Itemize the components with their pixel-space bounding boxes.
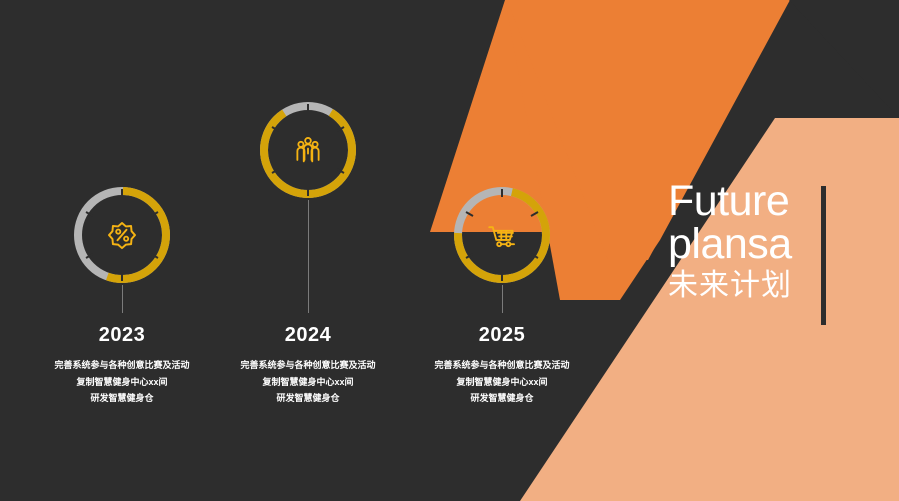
timeline-stem-2023	[122, 285, 123, 313]
title-chinese: 未来计划	[668, 269, 868, 302]
peach-overlay-top	[789, 0, 899, 118]
people-group-icon	[258, 100, 358, 200]
node-description-2024: 完善系统参与各种创意比赛及活动 复制智慧健身中心xx间 研发智慧健身仓	[208, 357, 408, 407]
slide-canvas: Future plansa 未来计划	[0, 0, 899, 501]
node-description-2023: 完善系统参与各种创意比赛及活动 复制智慧健身中心xx间 研发智慧健身仓	[22, 357, 222, 407]
discount-badge-icon	[72, 185, 172, 285]
desc-line: 复制智慧健身中心xx间	[22, 374, 222, 391]
shopping-cart-icon	[452, 185, 552, 285]
title-line-1: Future	[668, 180, 868, 223]
timeline-node-2024[interactable]: 2024 完善系统参与各种创意比赛及活动 复制智慧健身中心xx间 研发智慧健身仓	[208, 100, 408, 407]
progress-ring-2023	[72, 185, 172, 285]
year-label-2024: 2024	[208, 325, 408, 345]
desc-line: 完善系统参与各种创意比赛及活动	[402, 357, 602, 374]
desc-line: 研发智慧健身仓	[208, 390, 408, 407]
year-label-2025: 2025	[402, 325, 602, 345]
title-block: Future plansa 未来计划	[668, 180, 868, 302]
desc-line: 完善系统参与各种创意比赛及活动	[208, 357, 408, 374]
timeline: 2023 完善系统参与各种创意比赛及活动 复制智慧健身中心xx间 研发智慧健身仓	[0, 0, 600, 501]
progress-ring-2025	[452, 185, 552, 285]
year-label-2023: 2023	[22, 325, 222, 345]
title-line-2: plansa	[668, 223, 868, 266]
timeline-node-2023[interactable]: 2023 完善系统参与各种创意比赛及活动 复制智慧健身中心xx间 研发智慧健身仓	[22, 185, 222, 407]
timeline-node-2025[interactable]: 2025 完善系统参与各种创意比赛及活动 复制智慧健身中心xx间 研发智慧健身仓	[402, 185, 602, 407]
desc-line: 复制智慧健身中心xx间	[402, 374, 602, 391]
desc-line: 研发智慧健身仓	[402, 390, 602, 407]
node-description-2025: 完善系统参与各种创意比赛及活动 复制智慧健身中心xx间 研发智慧健身仓	[402, 357, 602, 407]
timeline-stem-2025	[502, 285, 503, 313]
timeline-stem-2024	[308, 200, 309, 313]
desc-line: 完善系统参与各种创意比赛及活动	[22, 357, 222, 374]
progress-ring-2024	[258, 100, 358, 200]
desc-line: 研发智慧健身仓	[22, 390, 222, 407]
desc-line: 复制智慧健身中心xx间	[208, 374, 408, 391]
